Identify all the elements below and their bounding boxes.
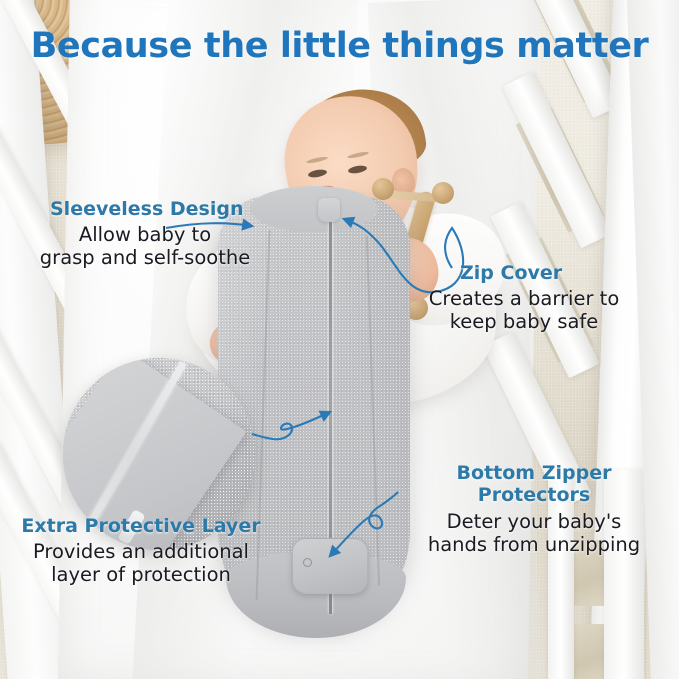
arrow-bottom-zipper-protectors xyxy=(330,492,398,556)
callout-bottom-zipper-protectors: Bottom Zipper Protectors Deter your baby… xyxy=(398,462,670,556)
callout-body-line-1: Provides an additional xyxy=(8,540,274,563)
callout-heading: Sleeveless Design xyxy=(22,198,268,220)
callout-body-line-2: hands from unzipping xyxy=(398,533,670,556)
callout-body-line-2: keep baby safe xyxy=(408,310,640,333)
callout-zip-cover: Zip Cover Creates a barrier to keep baby… xyxy=(408,262,640,333)
callout-extra-protective-layer: Extra Protective Layer Provides an addit… xyxy=(8,515,274,586)
callout-body-line-2: grasp and self-soothe xyxy=(22,246,268,269)
callout-heading: Bottom Zipper Protectors xyxy=(398,462,670,507)
page-title: Because the little things matter xyxy=(0,26,679,66)
product-feature-infographic: Because the little things matter Sleevel… xyxy=(0,0,679,679)
callout-body-line-1: Allow baby to xyxy=(22,223,268,246)
callout-body-line-2: layer of protection xyxy=(8,563,274,586)
callout-sleeveless-design: Sleeveless Design Allow baby to grasp an… xyxy=(22,198,268,269)
arrow-extra-protective-layer xyxy=(252,412,330,439)
callout-heading: Zip Cover xyxy=(408,262,640,284)
callout-body-line-1: Deter your baby's xyxy=(398,510,670,533)
callout-body-line-1: Creates a barrier to xyxy=(408,287,640,310)
callout-heading: Extra Protective Layer xyxy=(8,515,274,537)
